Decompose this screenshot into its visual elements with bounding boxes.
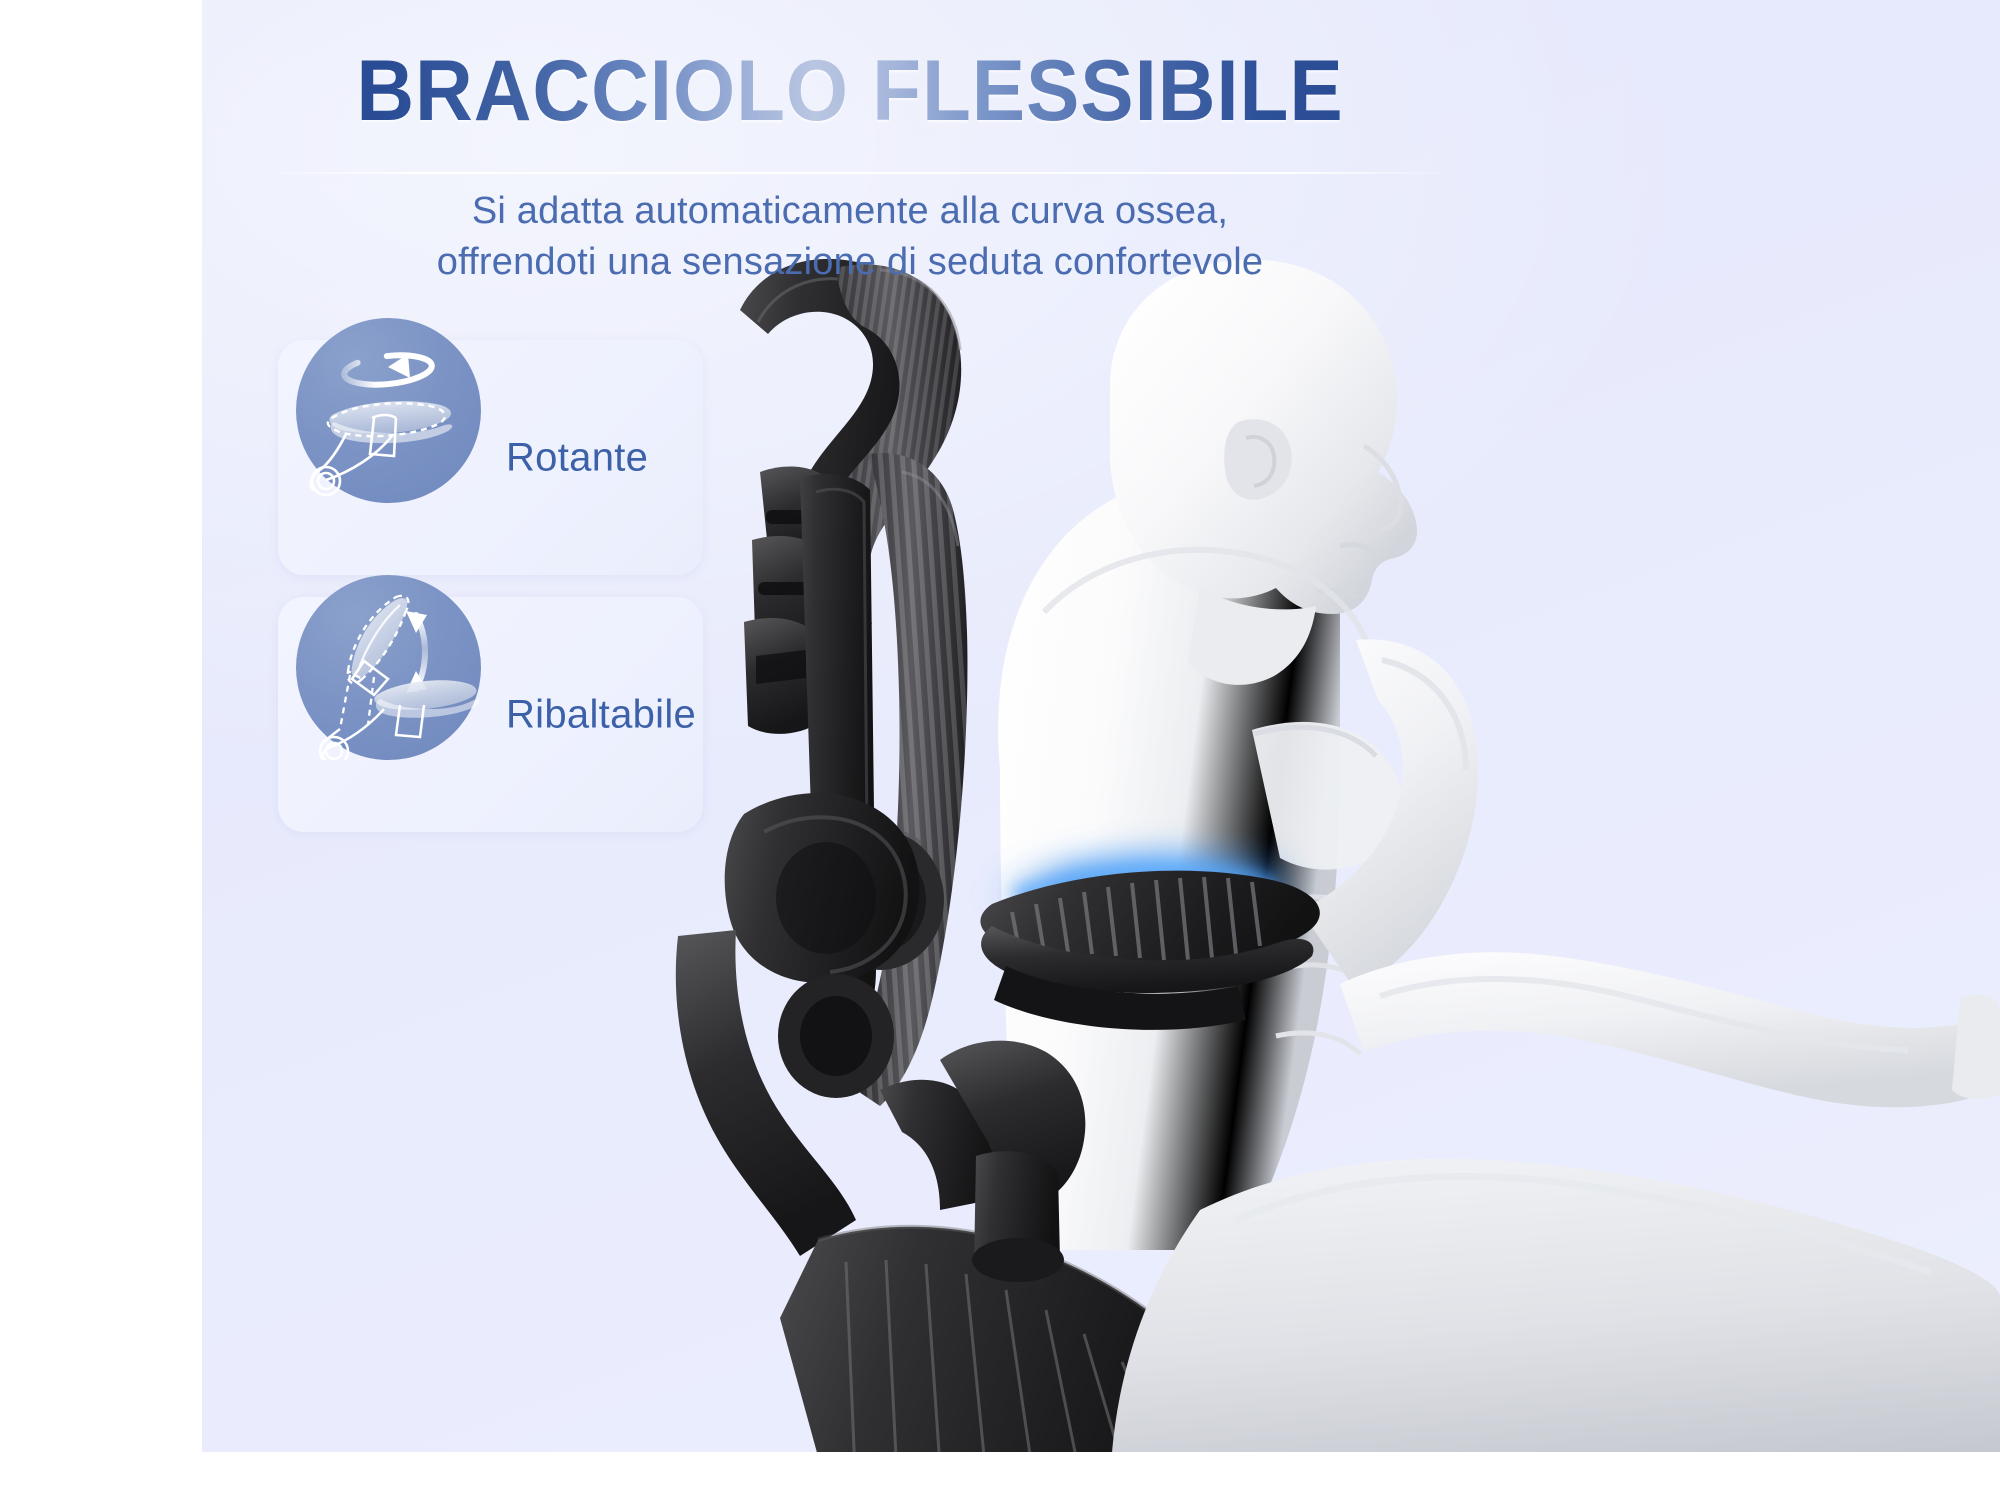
- subtitle-line-1: Si adatta automaticamente alla curva oss…: [200, 186, 1500, 237]
- subtitle-line-2: offrendoti una sensazione di seduta conf…: [200, 237, 1500, 288]
- armrest-pivot: [312, 467, 340, 495]
- armrest-support-arm-2: [320, 709, 384, 760]
- product-image: [640, 210, 2000, 1500]
- armrest-pad-resting: [374, 680, 479, 718]
- title-divider: [246, 172, 1458, 174]
- rotation-arrow: [343, 351, 433, 388]
- product-feature-banner: BRACCIOLO FLESSIBILE Si adatta automatic…: [0, 0, 2000, 1500]
- feature-label-rotante: Rotante: [506, 435, 648, 480]
- bottom-margin: [0, 1452, 2000, 1500]
- feature-label-ribaltabile: Ribaltabile: [506, 692, 696, 737]
- feature-card-rotante[interactable]: Rotante: [278, 340, 703, 575]
- armrest-rotate-icon: [296, 318, 481, 503]
- chair-tilt-mechanism: [725, 793, 920, 983]
- left-margin: [0, 0, 202, 1500]
- armrest-pivot-2: [320, 737, 348, 760]
- flip-arrow: [406, 611, 427, 693]
- feature-card-ribaltabile[interactable]: Ribaltabile: [278, 597, 703, 832]
- page-subtitle: Si adatta automaticamente alla curva oss…: [200, 186, 1500, 287]
- armrest-flip-icon: [296, 575, 481, 760]
- page-title: BRACCIOLO FLESSIBILE: [246, 48, 1455, 134]
